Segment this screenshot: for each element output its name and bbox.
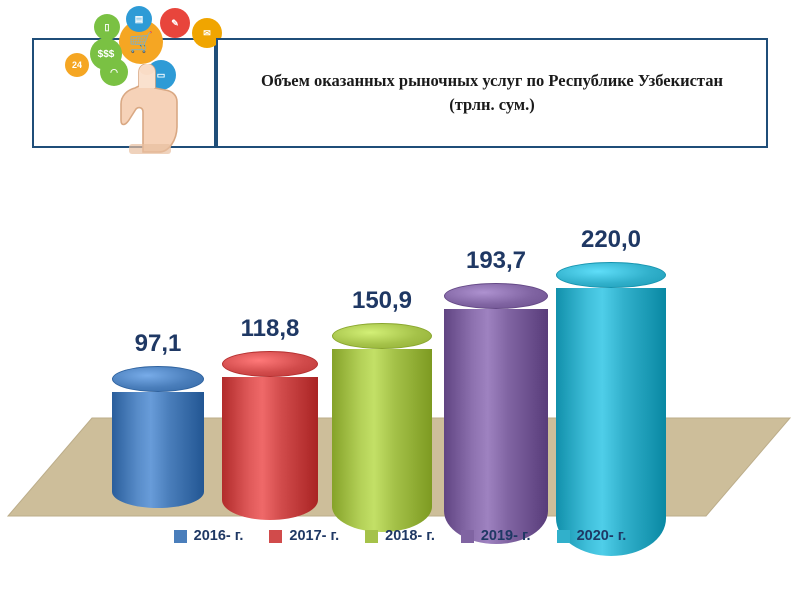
header-title-box: Объем оказанных рыночных услуг по Респуб…	[216, 38, 768, 148]
page-title: Объем оказанных рыночных услуг по Респуб…	[261, 69, 723, 93]
legend-label: 2020- г.	[577, 528, 627, 544]
legend-item-2020[interactable]: 2020- г.	[557, 528, 627, 544]
legend-swatch	[557, 530, 570, 543]
legend-label: 2018- г.	[385, 528, 435, 544]
cylinder-top	[222, 351, 318, 377]
bar-2018: 150,9	[332, 319, 432, 532]
bar-value-label: 118,8	[200, 315, 340, 343]
legend-label: 2017- г.	[289, 528, 339, 544]
bar-value-label: 220,0	[541, 226, 681, 254]
bar-2020: 220,0	[556, 258, 666, 556]
cylinder-top	[556, 262, 666, 288]
cylinder	[556, 262, 666, 556]
cylinder-body	[444, 309, 548, 544]
cylinder-body	[332, 349, 432, 532]
hand-pointer-icon	[109, 64, 193, 154]
legend-swatch	[174, 530, 187, 543]
legend-swatch	[461, 530, 474, 543]
cylinder	[112, 366, 204, 508]
chart-legend: 2016- г.2017- г.2018- г.2019- г.2020- г.	[0, 528, 800, 544]
header-icon-box: ✉ ✎ 🛒 ▤ ▯ $$$ 24 ◠ ▭	[32, 38, 216, 148]
calendar-icon: ▤	[126, 6, 152, 32]
cylinder	[332, 323, 432, 532]
bag-icon: ▯	[94, 14, 120, 40]
legend-item-2019[interactable]: 2019- г.	[461, 528, 531, 544]
24-badge-icon: 24	[62, 50, 92, 80]
chart-area: 97,1118,8150,9193,7220,0	[0, 150, 800, 550]
cylinder-top	[332, 323, 432, 349]
bar-2016: 97,1	[112, 362, 204, 508]
legend-label: 2016- г.	[194, 528, 244, 544]
legend-swatch	[365, 530, 378, 543]
legend-item-2018[interactable]: 2018- г.	[365, 528, 435, 544]
bar-value-label: 150,9	[312, 287, 452, 315]
legend-label: 2019- г.	[481, 528, 531, 544]
bar-2017: 118,8	[222, 347, 318, 520]
cylinder-body	[112, 392, 204, 508]
legend-item-2016[interactable]: 2016- г.	[174, 528, 244, 544]
cylinder-body	[556, 288, 666, 556]
bar-2019: 193,7	[444, 279, 548, 544]
pen-icon: ✎	[160, 8, 190, 38]
header-band: ✉ ✎ 🛒 ▤ ▯ $$$ 24 ◠ ▭ Объем оказанных рын…	[32, 38, 768, 148]
cylinder-top	[444, 283, 548, 309]
page-subtitle: (трлн. сум.)	[449, 93, 535, 117]
cylinder	[222, 351, 318, 520]
cylinder-body	[222, 377, 318, 520]
cylinder	[444, 283, 548, 544]
cylinder-top	[112, 366, 204, 392]
legend-item-2017[interactable]: 2017- г.	[269, 528, 339, 544]
legend-swatch	[269, 530, 282, 543]
